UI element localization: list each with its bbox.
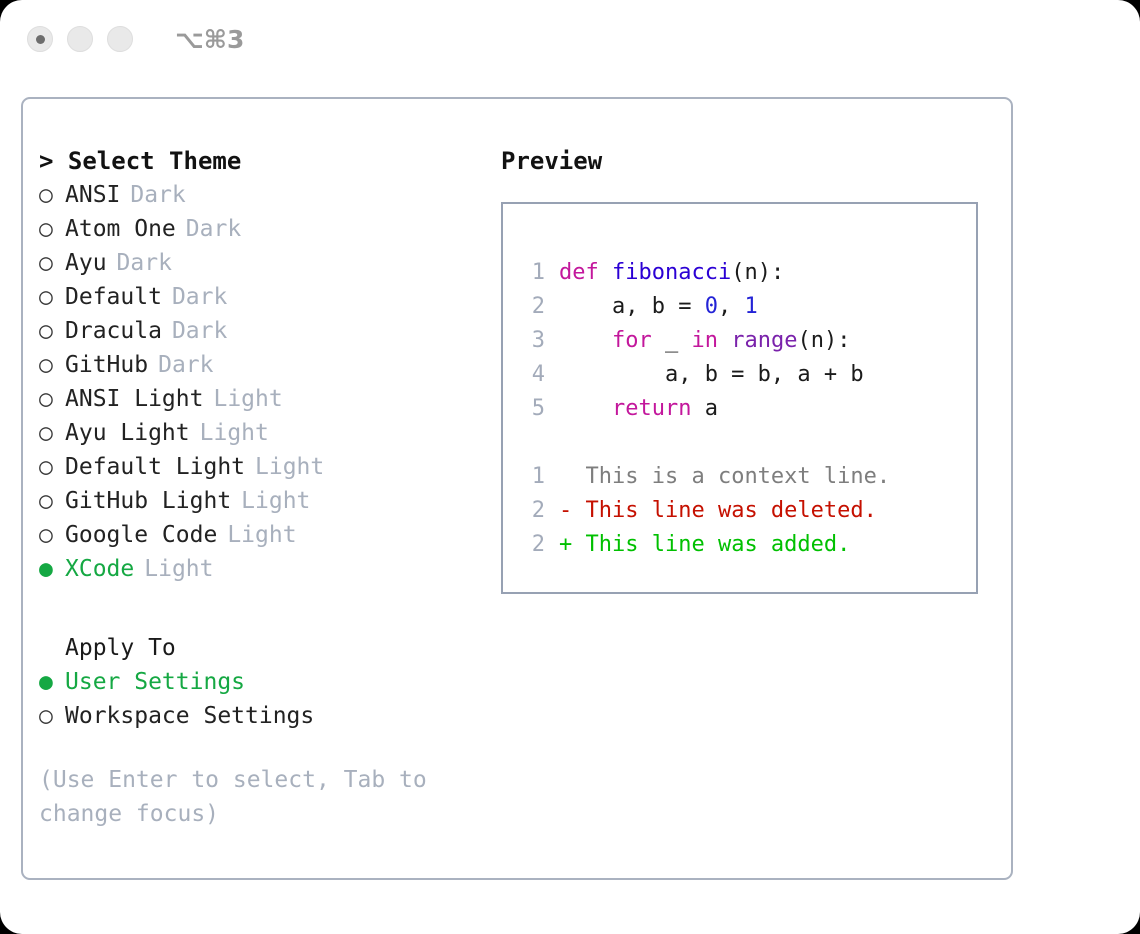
code-token: a: [691, 396, 718, 421]
theme-list-item[interactable]: ○ANSI LightLight: [39, 382, 489, 416]
diff-line: 1 This is a context line.: [521, 460, 976, 494]
theme-list-item[interactable]: ○Atom OneDark: [39, 212, 489, 246]
diff-line: 2- This line was deleted.: [521, 494, 976, 528]
radio-unselected-icon[interactable]: ○: [39, 416, 65, 450]
theme-variant-badge: Light: [144, 552, 213, 586]
radio-unselected-icon[interactable]: ○: [39, 178, 65, 212]
theme-name-label: Dracula: [65, 314, 162, 348]
theme-name-label: Ayu: [65, 246, 107, 280]
radio-unselected-icon[interactable]: ○: [39, 382, 65, 416]
theme-variant-badge: Dark: [172, 314, 227, 348]
apply-to-label: User Settings: [65, 665, 245, 699]
radio-selected-icon[interactable]: ●: [39, 552, 65, 586]
radio-unselected-icon[interactable]: ○: [39, 348, 65, 382]
code-line: 2 a, b = 0, 1: [521, 290, 976, 324]
code-line: 3 for _ in range(n):: [521, 324, 976, 358]
radio-selected-icon[interactable]: ●: [39, 665, 65, 699]
window-light-2[interactable]: [67, 26, 93, 52]
code-token: [559, 396, 612, 421]
theme-selection-column: > Select Theme ○ANSIDark○Atom OneDark○Ay…: [39, 144, 489, 831]
radio-unselected-icon[interactable]: ○: [39, 212, 65, 246]
theme-list-item[interactable]: ○ANSIDark: [39, 178, 489, 212]
diff-marker: [559, 464, 586, 489]
theme-name-label: ANSI Light: [65, 382, 203, 416]
theme-variant-badge: Light: [227, 518, 296, 552]
code-preview: 1def fibonacci(n):2 a, b = 0, 13 for _ i…: [503, 204, 976, 562]
line-number: 2: [521, 290, 545, 324]
main-panel: > Select Theme ○ANSIDark○Atom OneDark○Ay…: [21, 97, 1013, 880]
code-token: fibonacci: [612, 260, 731, 285]
theme-name-label: GitHub: [65, 348, 148, 382]
code-token: ,: [718, 294, 745, 319]
keyboard-shortcut-label: ⌥⌘3: [175, 25, 244, 54]
radio-unselected-icon[interactable]: ○: [39, 280, 65, 314]
code-token: for: [612, 328, 652, 353]
code-token: a, b = b, a + b: [559, 362, 864, 387]
line-number: 4: [521, 358, 545, 392]
theme-list-item[interactable]: ○Ayu LightLight: [39, 416, 489, 450]
code-token: range: [731, 328, 797, 353]
line-number: 5: [521, 392, 545, 426]
code-token: (n):: [731, 260, 784, 285]
theme-name-label: ANSI: [65, 178, 120, 212]
radio-unselected-icon[interactable]: ○: [39, 699, 65, 733]
theme-list[interactable]: ○ANSIDark○Atom OneDark○AyuDark○DefaultDa…: [39, 178, 489, 586]
theme-list-item[interactable]: ○Google CodeLight: [39, 518, 489, 552]
code-token: _: [652, 328, 692, 353]
code-token: 1: [744, 294, 757, 319]
theme-name-label: Default Light: [65, 450, 245, 484]
diff-text: This line was added.: [586, 532, 851, 557]
code-blank-line: [521, 426, 976, 460]
code-token: (n):: [797, 328, 850, 353]
code-token: [559, 328, 612, 353]
theme-list-item[interactable]: ○GitHubDark: [39, 348, 489, 382]
apply-to-option[interactable]: ○Workspace Settings: [39, 699, 489, 733]
preview-heading: Preview: [501, 144, 996, 178]
theme-variant-badge: Light: [200, 416, 269, 450]
theme-variant-badge: Light: [241, 484, 310, 518]
theme-list-item[interactable]: ○DefaultDark: [39, 280, 489, 314]
code-token: in: [691, 328, 718, 353]
code-line: 1def fibonacci(n):: [521, 256, 976, 290]
title-bar: ⌥⌘3: [0, 0, 1140, 78]
keyboard-hint-text: (Use Enter to select, Tab to change focu…: [39, 763, 439, 831]
line-number: 1: [521, 256, 545, 290]
theme-list-item[interactable]: ○AyuDark: [39, 246, 489, 280]
theme-name-label: XCode: [65, 552, 134, 586]
theme-list-item[interactable]: ●XCodeLight: [39, 552, 489, 586]
code-token: def: [559, 260, 599, 285]
window-light-3[interactable]: [107, 26, 133, 52]
code-line: 4 a, b = b, a + b: [521, 358, 976, 392]
theme-variant-badge: Dark: [172, 280, 227, 314]
apply-to-heading: Apply To: [65, 631, 489, 665]
radio-unselected-icon[interactable]: ○: [39, 484, 65, 518]
theme-variant-badge: Dark: [117, 246, 172, 280]
radio-unselected-icon[interactable]: ○: [39, 246, 65, 280]
theme-name-label: Google Code: [65, 518, 217, 552]
code-token: [599, 260, 612, 285]
line-number: 1: [521, 460, 545, 494]
active-dot-icon: [36, 35, 45, 44]
theme-name-label: GitHub Light: [65, 484, 231, 518]
theme-variant-badge: Light: [255, 450, 324, 484]
window-controls: [27, 26, 133, 52]
theme-name-label: Ayu Light: [65, 416, 190, 450]
theme-list-item[interactable]: ○GitHub LightLight: [39, 484, 489, 518]
diff-line: 2+ This line was added.: [521, 528, 976, 562]
radio-unselected-icon[interactable]: ○: [39, 314, 65, 348]
radio-unselected-icon[interactable]: ○: [39, 518, 65, 552]
theme-variant-badge: Dark: [186, 212, 241, 246]
code-token: a, b =: [559, 294, 705, 319]
theme-name-label: Default: [65, 280, 162, 314]
diff-text: This line was deleted.: [586, 498, 877, 523]
code-token: return: [612, 396, 691, 421]
line-number: 2: [521, 494, 545, 528]
diff-marker: -: [559, 498, 586, 523]
theme-variant-badge: Dark: [130, 178, 185, 212]
line-number: 3: [521, 324, 545, 358]
window-light-active[interactable]: [27, 26, 53, 52]
apply-to-label: Workspace Settings: [65, 699, 314, 733]
theme-variant-badge: Dark: [158, 348, 213, 382]
code-token: 0: [705, 294, 718, 319]
preview-box: 1def fibonacci(n):2 a, b = 0, 13 for _ i…: [501, 202, 978, 594]
select-theme-heading: > Select Theme: [39, 144, 489, 178]
theme-list-item[interactable]: ○DraculaDark: [39, 314, 489, 348]
apply-to-options[interactable]: ●User Settings○Workspace Settings: [39, 665, 489, 733]
radio-unselected-icon[interactable]: ○: [39, 450, 65, 484]
app-window: ⌥⌘3 > Select Theme ○ANSIDark○Atom OneDar…: [0, 0, 1140, 934]
line-number: 2: [521, 528, 545, 562]
code-line: 5 return a: [521, 392, 976, 426]
preview-column: Preview 1def fibonacci(n):2 a, b = 0, 13…: [501, 144, 996, 594]
theme-list-item[interactable]: ○Default LightLight: [39, 450, 489, 484]
theme-variant-badge: Light: [213, 382, 282, 416]
code-token: [718, 328, 731, 353]
diff-text: This is a context line.: [586, 464, 891, 489]
theme-name-label: Atom One: [65, 212, 176, 246]
apply-to-option[interactable]: ●User Settings: [39, 665, 489, 699]
diff-marker: +: [559, 532, 586, 557]
